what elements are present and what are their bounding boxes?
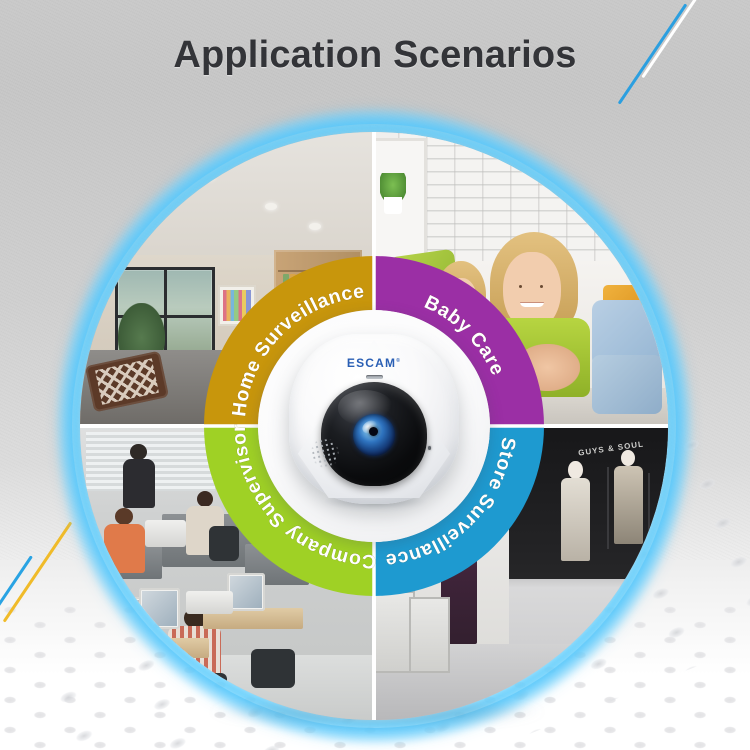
office-floor xyxy=(80,655,374,720)
infographic-page: Application Scenarios xyxy=(0,0,750,750)
standing-worker xyxy=(121,444,156,509)
ceiling-light-icon xyxy=(265,203,277,210)
mannequin-dark xyxy=(612,450,644,544)
escam-camera-device: ESCAM® xyxy=(289,334,459,512)
mannequin-light xyxy=(559,461,591,561)
clothing-rack xyxy=(648,473,650,549)
copier xyxy=(145,520,186,546)
lens-highlight xyxy=(360,418,380,436)
trademark-symbol: ® xyxy=(396,358,401,364)
accent-line-bottom-left-gold xyxy=(3,521,73,622)
brand-logo: ESCAM® xyxy=(347,356,401,370)
light-sensor xyxy=(428,446,432,450)
monitor xyxy=(98,597,145,641)
ceiling xyxy=(80,132,374,261)
camera-lens xyxy=(353,414,395,456)
plant-pot xyxy=(384,197,402,215)
seated-worker xyxy=(104,508,145,573)
office-chair xyxy=(251,649,295,687)
accent-line-bottom-left-blue xyxy=(0,555,33,616)
speaker-grille xyxy=(308,435,342,470)
page-title: Application Scenarios xyxy=(0,34,750,77)
clothing-rack xyxy=(607,467,609,549)
brand-name: ESCAM xyxy=(347,356,396,370)
scenario-wheel: GUYS & SOUL GUYS & SOUL xyxy=(80,132,668,720)
status-slot xyxy=(366,375,383,379)
blue-jeans xyxy=(592,355,663,414)
fisheye-dome xyxy=(321,382,427,486)
office-chair xyxy=(180,673,227,714)
monitor xyxy=(139,588,180,629)
desk xyxy=(86,638,209,659)
display-case xyxy=(409,597,450,673)
